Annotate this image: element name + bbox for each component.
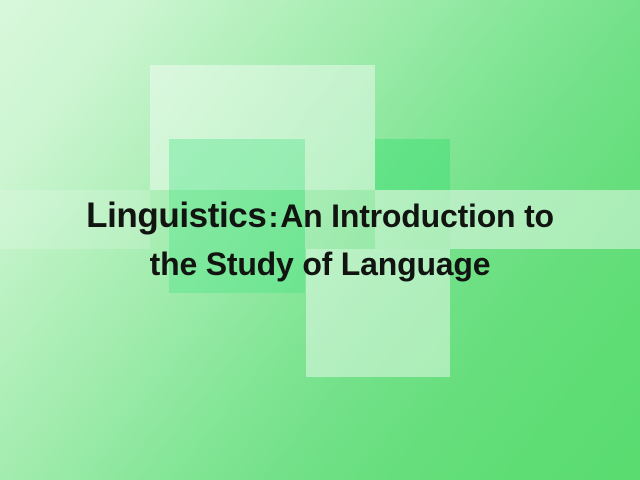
slide-title-separator: :: [266, 201, 280, 234]
slide-title-line-1: Linguistics:An Introduction to: [86, 192, 554, 241]
slide-title-line-2: the Study of Language: [150, 241, 491, 288]
slide-title-subtitle-part: An Introduction to: [280, 198, 554, 234]
slide-title-subject: Linguistics: [86, 196, 266, 235]
presentation-slide: Linguistics:An Introduction to the Study…: [0, 0, 640, 480]
slide-title-block: Linguistics:An Introduction to the Study…: [0, 0, 640, 480]
